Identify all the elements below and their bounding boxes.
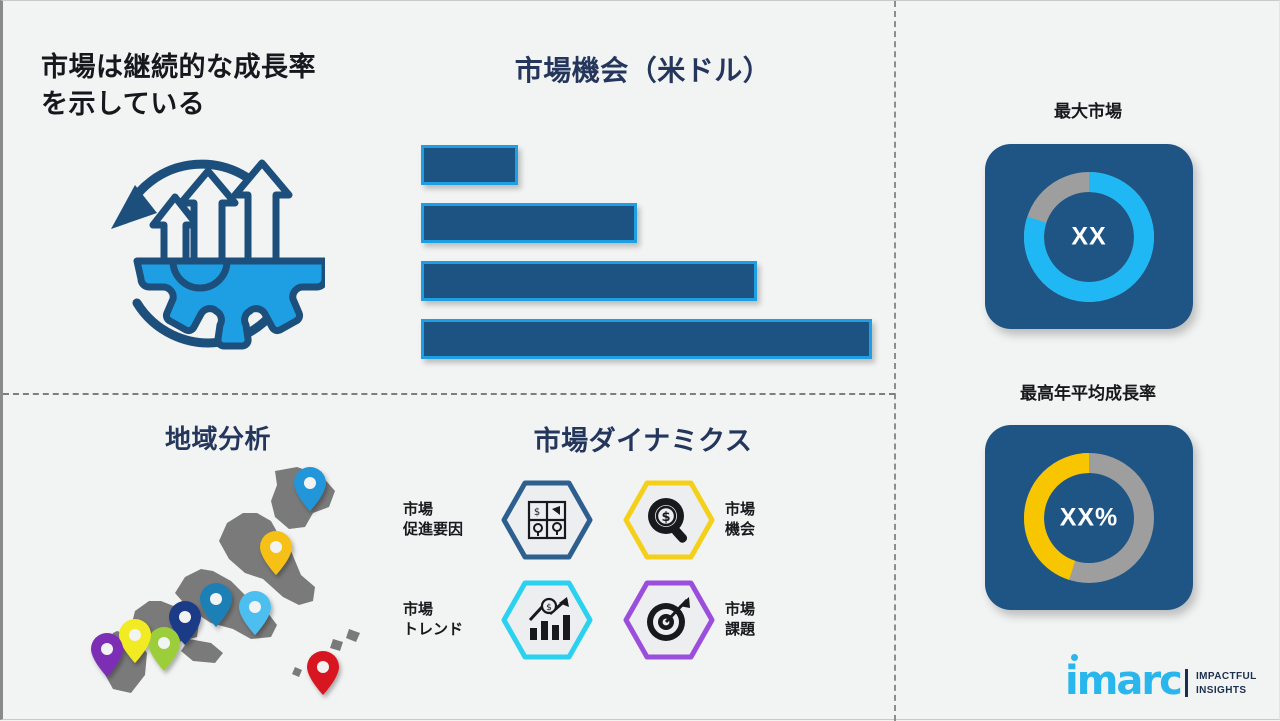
puzzle-pieces-icon: $	[501, 480, 593, 560]
dynamics-item-drivers[interactable]: 市場 促進要因 $	[403, 480, 623, 560]
logo-tagline: IMPACTFUL INSIGHTS	[1196, 670, 1257, 697]
dynamics-item-opportunities-label: 市場 機会	[725, 500, 805, 541]
dynamics-item-challenges-label: 市場 課題	[725, 600, 805, 641]
highest-cagr-label: 最高年平均成長率	[958, 379, 1218, 404]
svg-text:$: $	[534, 507, 540, 518]
highest-cagr-card: XX%	[985, 425, 1193, 610]
dynamics-item-trends[interactable]: 市場 トレンド $	[403, 580, 623, 660]
growth-cycle-gear-icon: $	[75, 133, 325, 373]
slide-canvas: 市場は継続的な成長率 を示している $	[0, 0, 1280, 720]
svg-text:$: $	[661, 510, 670, 525]
largest-market-card: XX	[985, 144, 1193, 329]
growth-bar-chart-icon: $	[501, 580, 593, 660]
pin-kansai	[148, 627, 180, 671]
growth-heading: 市場は継続的な成長率 を示している	[41, 49, 391, 124]
svg-text:$: $	[546, 603, 552, 613]
magnifier-dollar-icon: $	[623, 480, 715, 560]
imarc-logo: imarc IMPACTFUL INSIGHTS	[1065, 663, 1265, 707]
target-dart-icon	[623, 580, 715, 660]
largest-market-value: XX	[985, 222, 1193, 251]
horizontal-divider	[3, 393, 895, 395]
bar-4	[421, 319, 872, 359]
logo-wordmark: imarc	[1065, 661, 1181, 701]
dynamics-item-opportunities[interactable]: $ 市場 機会	[623, 480, 843, 560]
region-heading: 地域分析	[93, 419, 343, 456]
vertical-divider	[894, 1, 896, 721]
opportunity-heading: 市場機会（米ドル）	[423, 49, 863, 89]
dynamics-item-trends-label: 市場 トレンド	[403, 600, 495, 641]
japan-map	[65, 461, 385, 701]
market-opportunity-bar-chart	[421, 145, 891, 361]
highest-cagr-value: XX%	[985, 503, 1193, 532]
dynamics-heading: 市場ダイナミクス	[423, 419, 863, 458]
largest-market-label: 最大市場	[958, 97, 1218, 122]
pin-okinawa	[307, 651, 339, 695]
bar-3	[421, 261, 757, 301]
logo-divider	[1185, 669, 1188, 697]
bar-1	[421, 145, 518, 185]
dynamics-row-2: 市場 トレンド $	[403, 579, 843, 661]
bar-2	[421, 203, 637, 243]
dynamics-row-1: 市場 促進要因 $	[403, 479, 843, 561]
market-dynamics-group: 市場 促進要因 $	[403, 479, 843, 669]
dynamics-item-challenges[interactable]: 市場 課題	[623, 580, 843, 660]
dynamics-item-drivers-label: 市場 促進要因	[403, 500, 495, 541]
